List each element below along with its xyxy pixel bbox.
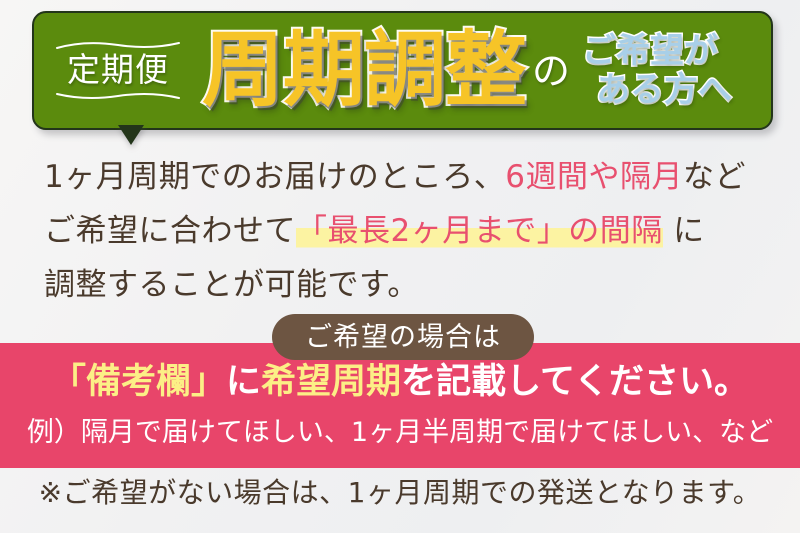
request-case-badge: ご希望の場合は: [272, 314, 534, 360]
description-paragraph: 1ヶ月周期でのお届けのところ、6週間や隔月など ご希望に合わせて「最長2ヶ月まで…: [44, 150, 774, 312]
banner-title: 周期調整: [202, 30, 526, 112]
description-line-1-part-1: 1ヶ月周期でのお届けのところ、: [44, 159, 505, 195]
description-line-1-accent: 6週間や隔月: [505, 159, 683, 195]
subscription-label-group: 定期便: [54, 41, 182, 100]
promo-banner: 定期便 周期調整 の ご希望が ある方へ 1ヶ月周期でのお届けのところ、6週間や…: [0, 0, 800, 533]
instruction-main-part-4: を記載してください。: [401, 362, 749, 402]
wave-rule-top-icon: [56, 41, 180, 50]
wish-target-line-1: ご希望が: [582, 32, 732, 70]
wave-rule-bottom-icon: [56, 91, 180, 100]
instruction-band: 「備考欄」に希望周期を記載してください。 例）隔月で届けてほしい、1ヶ月半周期で…: [0, 343, 800, 468]
instruction-main-part-2: に: [226, 362, 261, 402]
instruction-main-part-3: 希望周期: [261, 362, 401, 402]
banner-header: 定期便 周期調整 の ご希望が ある方へ: [0, 0, 800, 146]
description-line-2-highlight: 「最長2ヶ月まで」の間隔: [296, 213, 663, 249]
wish-target-line-2: ある方へ: [596, 71, 732, 109]
header-content-row: 定期便 周期調整 の ご希望が ある方へ: [32, 11, 773, 130]
instruction-main-text: 「備考欄」に希望周期を記載してください。: [0, 365, 800, 400]
instruction-example-text: 例）隔月で届けてほしい、1ヶ月半周期で届けてほしい、など: [0, 419, 800, 446]
footer-default-note: ※ご希望がない場合は、1ヶ月周期での発送となります。: [0, 479, 800, 507]
title-connector-particle: の: [532, 52, 570, 90]
subscription-label: 定期便: [54, 50, 182, 91]
description-line-3: 調整することが可能です。: [44, 258, 774, 312]
description-line-1: 1ヶ月周期でのお届けのところ、6週間や隔月など: [44, 150, 774, 204]
instruction-main-part-1: 「備考欄」: [51, 362, 226, 402]
description-line-2: ご希望に合わせて「最長2ヶ月まで」の間隔 に: [44, 204, 774, 258]
description-line-1-part-3: など: [683, 159, 746, 195]
wish-target-group: ご希望が ある方へ: [582, 32, 732, 108]
description-line-2-part-1: ご希望に合わせて: [44, 213, 296, 249]
request-case-badge-label: ご希望の場合は: [305, 324, 501, 351]
description-line-2-part-3: に: [663, 213, 705, 249]
